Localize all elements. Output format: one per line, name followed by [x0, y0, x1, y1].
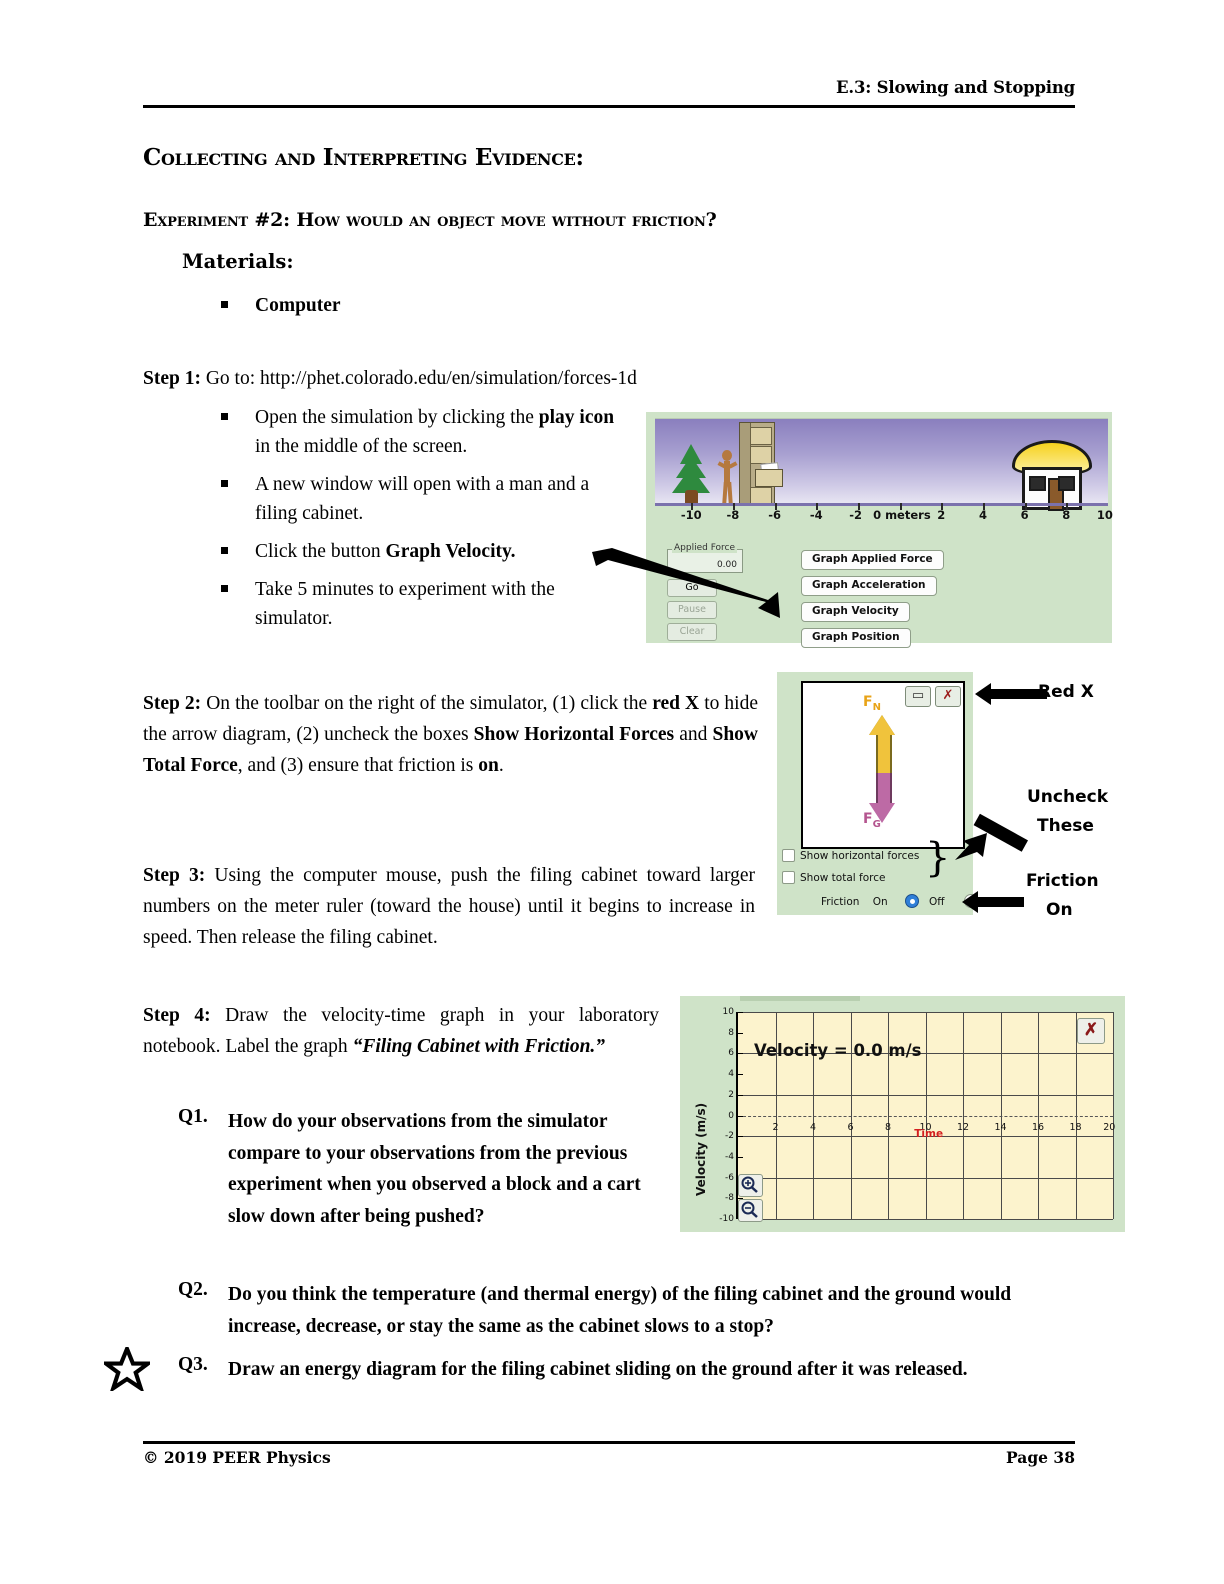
ruler-origin-label: 0 meters [873, 508, 931, 522]
y-tick-label: 4 [728, 1069, 734, 1079]
y-tick-label: 2 [728, 1090, 734, 1100]
zoom-in-button[interactable] [738, 1174, 763, 1197]
step-3-paragraph: Step 3: Using the computer mouse, push t… [143, 860, 755, 953]
step-2-label: Step 2: [143, 693, 201, 714]
x-tick-label: 4 [810, 1122, 816, 1133]
velocity-readout: Velocity = 0.0 m/s [754, 1041, 921, 1060]
meter-ruler: -10 -8 -6 -4 -2 0 meters 2 4 6 8 10 [655, 503, 1108, 525]
step-3-text: Using the computer mouse, push the filin… [143, 865, 755, 948]
checkbox-brace: } [925, 838, 950, 878]
plot-area: Velocity = 0.0 m/s 2 4 6 8 10 12 14 16 1… [736, 1012, 1113, 1219]
y-tick-label: -8 [725, 1193, 734, 1203]
show-horizontal-forces-checkbox[interactable] [782, 849, 795, 862]
bullet-text: A new window will open with a man and a … [255, 474, 589, 524]
bullet-square-icon [221, 413, 228, 420]
show-total-force-row[interactable]: Show total force [782, 872, 885, 884]
step-2-bold-1: red X [652, 693, 699, 714]
panel-tab [740, 996, 860, 1001]
materials-heading: Materials: [182, 250, 294, 273]
bullet-square-icon [221, 585, 228, 592]
ruler-tick-label: -8 [727, 508, 740, 522]
step-1-text: Go to: http://phet.colorado.edu/en/simul… [201, 368, 637, 389]
running-head: E.3: Slowing and Stopping [143, 78, 1075, 97]
bullet-square-icon [221, 301, 228, 308]
step-1-label: Step 1: [143, 368, 201, 389]
materials-item-label: Computer [255, 290, 341, 321]
step-4-quote-bold: with [485, 1036, 520, 1057]
question-text: Draw an energy diagram for the filing ca… [228, 1354, 968, 1386]
bullet-text: Take 5 minutes to experiment with the si… [255, 579, 555, 629]
step-4-paragraph: Step 4: Draw the velocity-time graph in … [143, 1000, 659, 1062]
ruler-tick-label: 6 [1021, 508, 1029, 522]
footer-page-number: Page 38 [143, 1448, 1075, 1467]
sky-background [655, 418, 1108, 504]
magnifier-minus-icon [739, 1200, 760, 1219]
gravity-force-label: FG [863, 811, 881, 830]
step-4-label: Step 4: [143, 1005, 211, 1026]
step-1-paragraph: Step 1: Go to: http://phet.colorado.edu/… [143, 363, 863, 394]
y-tick-label: 10 [723, 1007, 734, 1017]
bullet-text-cont: in the middle of the screen. [255, 436, 467, 457]
question-q2: Q2. Do you think the temperature (and th… [178, 1279, 1048, 1348]
x-tick-label: 6 [847, 1122, 853, 1133]
annotation-red-x: Red X [1038, 682, 1094, 702]
section-heading: Collecting and Interpreting Evidence: [143, 144, 584, 171]
restore-window-button[interactable]: ▭ [905, 686, 931, 707]
normal-force-arrow-icon [869, 715, 895, 773]
red-x-icon: ✗ [1078, 1019, 1104, 1041]
step-1-bullet: Click the button Graph Velocity. [221, 537, 621, 566]
restore-icon: ▭ [906, 687, 930, 705]
ruler-tick-label: 8 [1062, 508, 1070, 522]
step-1-bullets: Open the simulation by clicking the play… [221, 403, 621, 642]
question-text: Do you think the temperature (and therma… [228, 1279, 1048, 1342]
step-4-quote-1: “Filing Cabinet [353, 1036, 485, 1057]
bullet-text: Open the simulation by clicking the [255, 407, 539, 428]
ruler-tick-label: -4 [810, 508, 823, 522]
show-horizontal-forces-label: Show horizontal forces [800, 850, 919, 862]
step-1-bullet: A new window will open with a man and a … [221, 470, 621, 528]
step-4-quote-2: Friction.” [519, 1036, 605, 1057]
ruler-tick-label: -6 [768, 508, 781, 522]
bullet-bold: play icon [539, 407, 614, 428]
ruler-tick-label: 2 [937, 508, 945, 522]
bullet-square-icon [221, 480, 228, 487]
pointer-arrow-friction [962, 888, 1042, 918]
x-tick-label: 16 [1032, 1122, 1044, 1133]
y-tick-label: 8 [728, 1028, 734, 1038]
graph-position-button[interactable]: Graph Position [801, 628, 911, 648]
x-tick-label: 8 [885, 1122, 891, 1133]
red-x-icon: ✗ [936, 687, 960, 705]
x-tick-label: 18 [1069, 1122, 1081, 1133]
show-horizontal-forces-row[interactable]: Show horizontal forces [782, 850, 919, 862]
annotation-friction-line2: On [1046, 900, 1073, 920]
y-axis-ticks: 10 8 6 4 2 0 -2 -4 -6 -8 -10 [708, 1012, 734, 1219]
star-icon [104, 1347, 150, 1391]
tree-icon [671, 432, 711, 504]
friction-row[interactable]: Friction On Off [821, 896, 945, 908]
y-tick-label: 0 [728, 1111, 734, 1121]
graph-velocity-button[interactable]: Graph Velocity [801, 602, 910, 622]
velocity-graph-screenshot: Velocity (m/s) 10 8 6 4 2 0 -2 -4 -6 -8 … [680, 996, 1125, 1232]
question-q3: Q3. Draw an energy diagram for the filin… [178, 1354, 1048, 1392]
friction-on-label: On [873, 896, 888, 908]
step-2-text-4: , and (3) ensure that friction is [238, 755, 478, 776]
y-tick-label: -10 [719, 1214, 734, 1224]
question-number: Q2. [178, 1279, 228, 1342]
friction-on-radio[interactable] [905, 894, 919, 908]
step-2-paragraph: Step 2: On the toolbar on the right of t… [143, 688, 758, 781]
header-rule [143, 105, 1075, 108]
ruler-tick-label: 4 [979, 508, 987, 522]
show-total-force-checkbox[interactable] [782, 871, 795, 884]
bullet-text: Click the button [255, 541, 386, 562]
house-icon [1012, 440, 1086, 504]
question-number: Q1. [178, 1106, 228, 1232]
annotation-uncheck-line2: These [1037, 816, 1094, 836]
pointer-arrow-uncheck [955, 805, 1045, 865]
graph-acceleration-button[interactable]: Graph Acceleration [801, 576, 937, 596]
document-page: E.3: Slowing and Stopping Collecting and… [0, 0, 1224, 1584]
bullet-square-icon [221, 547, 228, 554]
x-tick-label: 12 [957, 1122, 969, 1133]
normal-force-label: FN [863, 694, 881, 713]
x-axis-label: Time [914, 1128, 943, 1140]
materials-list-item: Computer [221, 290, 341, 321]
zoom-out-button[interactable] [738, 1199, 763, 1222]
footer-rule [143, 1441, 1075, 1444]
y-tick-label: -4 [725, 1152, 734, 1162]
graph-close-button[interactable]: ✗ [1077, 1018, 1105, 1044]
magnifier-plus-icon [739, 1175, 760, 1194]
close-red-x-button[interactable]: ✗ [935, 686, 961, 707]
y-tick-label: -2 [725, 1131, 734, 1141]
step-2-text-3: and [674, 724, 712, 745]
x-tick-label: 20 [1103, 1122, 1115, 1133]
ruler-tick-label: 10 [1097, 508, 1113, 522]
step-1-bullet: Take 5 minutes to experiment with the si… [221, 575, 621, 633]
step-1-bullet: Open the simulation by clicking the play… [221, 403, 621, 461]
friction-off-label: Off [929, 896, 945, 908]
ruler-tick-label: -10 [681, 508, 702, 522]
step-3-label: Step 3: [143, 865, 205, 886]
question-q1: Q1. How do your observations from the si… [178, 1106, 658, 1238]
graph-applied-force-button[interactable]: Graph Applied Force [801, 550, 944, 570]
pointer-arrow-graph-velocity [590, 548, 790, 623]
annotation-uncheck-line1: Uncheck [1027, 787, 1108, 807]
y-tick-label: 6 [728, 1048, 734, 1058]
step-2-text-5: . [499, 755, 504, 776]
question-text: How do your observations from the simula… [228, 1106, 658, 1232]
bullet-bold: Graph Velocity. [386, 541, 516, 562]
filing-cabinet-icon [739, 422, 775, 504]
x-tick-label: 2 [772, 1122, 778, 1133]
experiment-heading: Experiment #2: How would an object move … [143, 209, 717, 231]
y-tick-label: -6 [725, 1173, 734, 1183]
man-figure-icon [718, 450, 736, 504]
ruler-tick-label: -2 [849, 508, 862, 522]
clear-button[interactable]: Clear [667, 623, 717, 641]
annotation-friction-line1: Friction [1026, 871, 1099, 891]
question-number: Q3. [178, 1354, 228, 1386]
show-total-force-label: Show total force [800, 872, 885, 884]
step-2-bold-4: on [478, 755, 499, 776]
friction-label: Friction [821, 896, 859, 908]
step-2-text-1: On the toolbar on the right of the simul… [201, 693, 652, 714]
y-axis-label: Velocity (m/s) [694, 1103, 708, 1196]
step-2-bold-2: Show Horizontal Forces [474, 724, 674, 745]
x-tick-label: 14 [994, 1122, 1006, 1133]
